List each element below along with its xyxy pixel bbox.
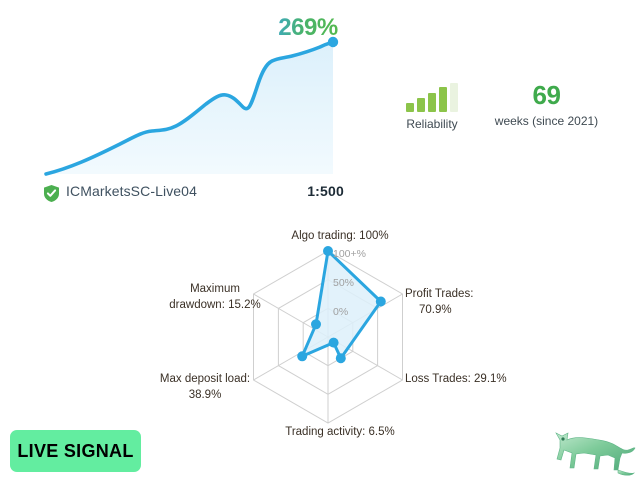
reliability-bar-1	[406, 103, 414, 112]
account-name[interactable]: ICMarketsSC-Live04	[66, 183, 197, 199]
radar-point-max-deposit-load	[297, 351, 307, 361]
growth-area	[46, 42, 333, 174]
radar-label-text: Algo trading: 100%	[291, 230, 388, 242]
age-weeks-number: 69	[474, 82, 619, 108]
radar-label-trading-activity: Trading activity: 6.5%	[245, 425, 435, 441]
radar-point-algo-trading	[323, 246, 333, 256]
account-row: ICMarketsSC-Live04 1:500	[44, 183, 344, 205]
account-leverage: 1:500	[307, 183, 344, 199]
radar-label-algo-trading: Algo trading: 100%	[270, 229, 410, 245]
radar-label-value: drawdown: 15.2%	[169, 299, 260, 311]
reliability-bar-4	[439, 87, 447, 112]
radar-label-loss-trades: Loss Trades: 29.1%	[405, 372, 545, 388]
age-block: 69 weeks (since 2021)	[474, 82, 619, 128]
radar-label-text: Loss Trades: 29.1%	[405, 373, 507, 385]
reliability-label: Reliability	[394, 117, 470, 131]
growth-chart: 269%	[0, 0, 360, 180]
radar-scale-inner: 0%	[333, 306, 348, 318]
radar-label-text: Profit Trades:	[405, 288, 473, 300]
radar-label-text: Trading activity: 6.5%	[285, 426, 395, 438]
panther-logo-icon	[548, 424, 636, 480]
radar-label-value: 70.9%	[405, 303, 452, 319]
radar-scale-outer: 100+%	[333, 248, 366, 260]
radar-chart: 100+% 50% 0% Algo trading: 100% Profit T…	[120, 222, 550, 452]
radar-label-text: Max deposit load:	[160, 373, 250, 385]
radar-point-max-drawdown	[311, 319, 321, 329]
age-weeks-label: weeks (since 2021)	[474, 114, 619, 128]
radar-data-area	[302, 251, 381, 358]
radar-point-profit-trades	[376, 297, 386, 307]
radar-label-text: Maximum	[190, 283, 240, 295]
radar-label-value: 38.9%	[189, 389, 222, 401]
reliability-bar-3	[428, 93, 436, 112]
signal-card: 269% ICMarketsSC-Live04 1:500 Reliabilit…	[0, 0, 640, 480]
radar-scale-middle: 50%	[333, 277, 354, 289]
reliability-block: Reliability	[394, 84, 470, 131]
radar-point-loss-trades	[336, 353, 346, 363]
live-signal-badge[interactable]: LIVE SIGNAL	[10, 430, 141, 472]
radar-label-profit-trades: Profit Trades: 70.9%	[405, 287, 535, 318]
radar-point-trading-activity	[329, 338, 339, 348]
shield-check-icon	[44, 185, 59, 202]
growth-percent-label: 269%	[268, 14, 348, 42]
reliability-bar-5	[450, 83, 458, 112]
reliability-bars	[394, 84, 470, 112]
radar-chart-svg: 100+% 50% 0%	[120, 222, 550, 452]
radar-label-max-deposit-load: Max deposit load: 38.9%	[130, 372, 280, 403]
reliability-bar-2	[417, 98, 425, 112]
radar-label-max-drawdown: Maximum drawdown: 15.2%	[145, 282, 285, 313]
